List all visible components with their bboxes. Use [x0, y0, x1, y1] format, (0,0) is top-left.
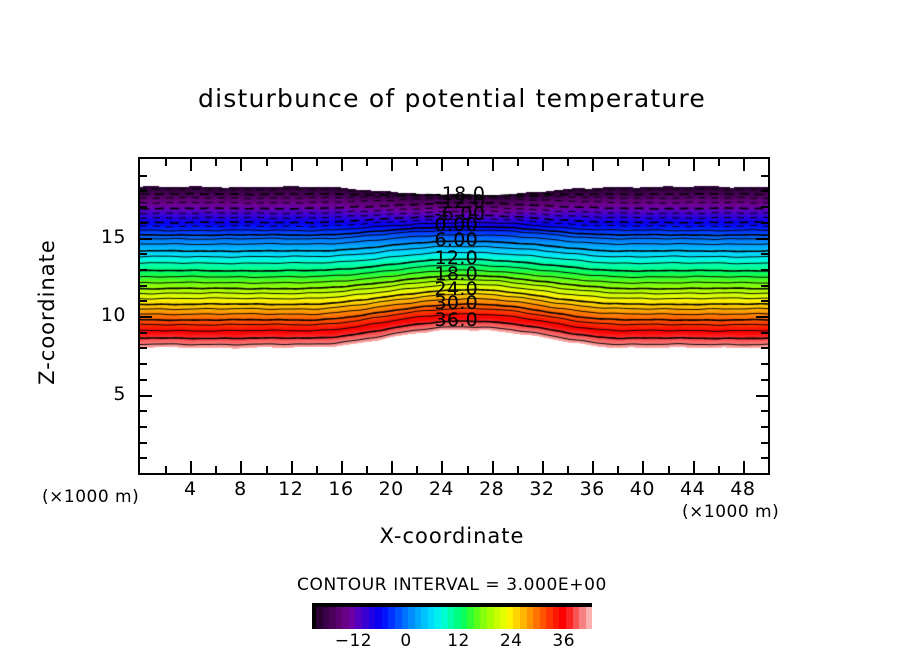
axis-tick — [592, 159, 594, 171]
colorbar-cell — [362, 607, 369, 629]
colorbar-cell — [342, 607, 349, 629]
axis-tick — [140, 410, 147, 412]
colorbar-cell — [500, 607, 507, 629]
x-axis-tick-label: 28 — [472, 478, 512, 500]
axis-tick — [761, 426, 768, 428]
colorbar-cell — [428, 607, 435, 629]
axis-tick — [467, 159, 469, 166]
axis-tick — [642, 461, 644, 473]
axis-tick — [761, 332, 768, 334]
colorbar-cell — [434, 607, 441, 629]
colorbar-cell — [553, 607, 560, 629]
colorbar-cell — [494, 607, 501, 629]
axis-tick — [668, 466, 670, 473]
axis-tick — [140, 285, 147, 287]
colorbar-tick-label: 36 — [544, 631, 584, 651]
colorbar-strip — [316, 607, 592, 629]
colorbar-cell — [520, 607, 527, 629]
colorbar — [312, 603, 592, 629]
colorbar-cell — [336, 607, 343, 629]
axis-tick — [617, 159, 619, 166]
axis-tick — [761, 347, 768, 349]
axis-tick — [718, 159, 720, 166]
colorbar-cell — [355, 607, 362, 629]
y-axis-tick-label: 15 — [86, 226, 126, 248]
x-axis-tick-label: 44 — [673, 478, 713, 500]
colorbar-cell — [408, 607, 415, 629]
x-axis-label: X-coordinate — [0, 524, 904, 548]
axis-tick — [366, 466, 368, 473]
axis-tick — [140, 457, 147, 459]
colorbar-cell — [559, 607, 566, 629]
axis-tick — [291, 159, 293, 171]
x-axis-tick-label: 16 — [321, 478, 361, 500]
axis-tick — [693, 159, 695, 171]
colorbar-cell — [415, 607, 422, 629]
colorbar-cell — [441, 607, 448, 629]
axis-tick — [140, 379, 147, 381]
axis-tick — [140, 175, 147, 177]
axis-tick — [761, 206, 768, 208]
axis-tick — [190, 159, 192, 171]
axis-tick — [761, 410, 768, 412]
x-axis-tick-label: 12 — [271, 478, 311, 500]
y-axis-tick-label: 5 — [86, 383, 126, 405]
axis-tick — [416, 159, 418, 166]
page-title: disturbunce of potential temperature — [0, 84, 904, 113]
axis-tick — [140, 316, 152, 318]
axis-tick — [542, 159, 544, 171]
colorbar-cell — [546, 607, 553, 629]
axis-tick — [517, 159, 519, 166]
x-axis-tick-label: 36 — [572, 478, 612, 500]
axis-tick — [592, 461, 594, 473]
axis-tick — [140, 206, 147, 208]
axis-tick — [718, 466, 720, 473]
colorbar-cell — [395, 607, 402, 629]
axis-tick — [761, 457, 768, 459]
axis-tick — [567, 466, 569, 473]
colorbar-cell — [382, 607, 389, 629]
axis-tick — [240, 159, 242, 171]
colorbar-cell — [421, 607, 428, 629]
axis-tick — [693, 461, 695, 473]
y-axis-label: Z-coordinate — [35, 232, 59, 392]
axis-tick — [668, 159, 670, 166]
axis-tick — [761, 253, 768, 255]
axis-tick — [567, 159, 569, 166]
axis-tick — [140, 332, 147, 334]
axis-tick — [517, 466, 519, 473]
axis-tick — [492, 461, 494, 473]
axis-tick — [391, 461, 393, 473]
axis-tick — [756, 316, 768, 318]
axis-tick — [266, 159, 268, 166]
axis-tick — [215, 159, 217, 166]
axis-tick — [492, 159, 494, 171]
colorbar-cell — [573, 607, 580, 629]
colorbar-cell — [480, 607, 487, 629]
colorbar-cell — [513, 607, 520, 629]
colorbar-cell — [540, 607, 547, 629]
axis-tick — [215, 466, 217, 473]
axis-tick — [467, 466, 469, 473]
axis-tick — [743, 159, 745, 171]
colorbar-cell — [448, 607, 455, 629]
x-axis-tick-label: 40 — [622, 478, 662, 500]
colorbar-cell — [487, 607, 494, 629]
x-axis-tick-label: 8 — [220, 478, 260, 500]
colorbar-cell — [323, 607, 330, 629]
axis-tick — [761, 175, 768, 177]
colorbar-cell — [474, 607, 481, 629]
axis-tick — [441, 159, 443, 171]
colorbar-cell — [566, 607, 573, 629]
x-axis-tick-label: 48 — [723, 478, 763, 500]
colorbar-tick-label: 0 — [386, 631, 426, 651]
axis-tick — [761, 442, 768, 444]
axis-tick — [743, 461, 745, 473]
axis-tick — [140, 300, 147, 302]
contour-label: 36.0 — [435, 309, 479, 331]
colorbar-cell — [388, 607, 395, 629]
axis-tick — [441, 461, 443, 473]
axis-tick — [366, 159, 368, 166]
axis-tick — [761, 222, 768, 224]
colorbar-cell — [349, 607, 356, 629]
y-axis-unit-label: (×1000 m) — [42, 487, 139, 507]
colorbar-cell — [454, 607, 461, 629]
colorbar-cell — [586, 607, 593, 629]
axis-tick — [140, 347, 147, 349]
axis-tick — [240, 461, 242, 473]
axis-tick — [642, 159, 644, 171]
contour-interval-caption: CONTOUR INTERVAL = 3.000E+00 — [0, 575, 904, 595]
x-axis-tick-label: 20 — [371, 478, 411, 500]
colorbar-tick-label: 24 — [491, 631, 531, 651]
colorbar-cell — [375, 607, 382, 629]
axis-tick — [140, 253, 147, 255]
axis-tick — [316, 159, 318, 166]
colorbar-cell — [316, 607, 323, 629]
x-axis-tick-label: 24 — [421, 478, 461, 500]
axis-tick — [140, 363, 147, 365]
plot-area: -18.0-12.0-6.000.006.0012.018.024.030.03… — [138, 157, 770, 475]
axis-tick — [761, 379, 768, 381]
x-axis-unit-label: (×1000 m) — [682, 502, 779, 522]
colorbar-cell — [507, 607, 514, 629]
x-axis-tick-label: 32 — [522, 478, 562, 500]
axis-tick — [761, 269, 768, 271]
colorbar-cell — [527, 607, 534, 629]
axis-tick — [140, 222, 147, 224]
axis-tick — [761, 285, 768, 287]
y-axis-tick-label: 10 — [86, 304, 126, 326]
axis-tick — [165, 466, 167, 473]
colorbar-cell — [329, 607, 336, 629]
axis-tick — [341, 159, 343, 171]
colorbar-cell — [579, 607, 586, 629]
axis-tick — [761, 300, 768, 302]
colorbar-cell — [461, 607, 468, 629]
axis-tick — [165, 159, 167, 166]
colorbar-cell — [402, 607, 409, 629]
axis-tick — [140, 190, 147, 192]
axis-tick — [140, 442, 147, 444]
axis-tick — [761, 190, 768, 192]
colorbar-tick-label: 12 — [439, 631, 479, 651]
axis-tick — [341, 461, 343, 473]
axis-tick — [761, 363, 768, 365]
colorbar-cell — [533, 607, 540, 629]
colorbar-cell — [369, 607, 376, 629]
axis-tick — [756, 395, 768, 397]
axis-tick — [140, 238, 152, 240]
axis-tick — [266, 466, 268, 473]
axis-tick — [291, 461, 293, 473]
axis-tick — [542, 461, 544, 473]
axis-tick — [756, 238, 768, 240]
axis-tick — [416, 466, 418, 473]
axis-tick — [617, 466, 619, 473]
colorbar-tick-label: −12 — [333, 631, 373, 651]
axis-tick — [316, 466, 318, 473]
colorbar-cell — [467, 607, 474, 629]
axis-tick — [140, 395, 152, 397]
axis-tick — [391, 159, 393, 171]
axis-tick — [140, 426, 147, 428]
axis-tick — [140, 269, 147, 271]
axis-tick — [190, 461, 192, 473]
x-axis-tick-label: 4 — [170, 478, 210, 500]
